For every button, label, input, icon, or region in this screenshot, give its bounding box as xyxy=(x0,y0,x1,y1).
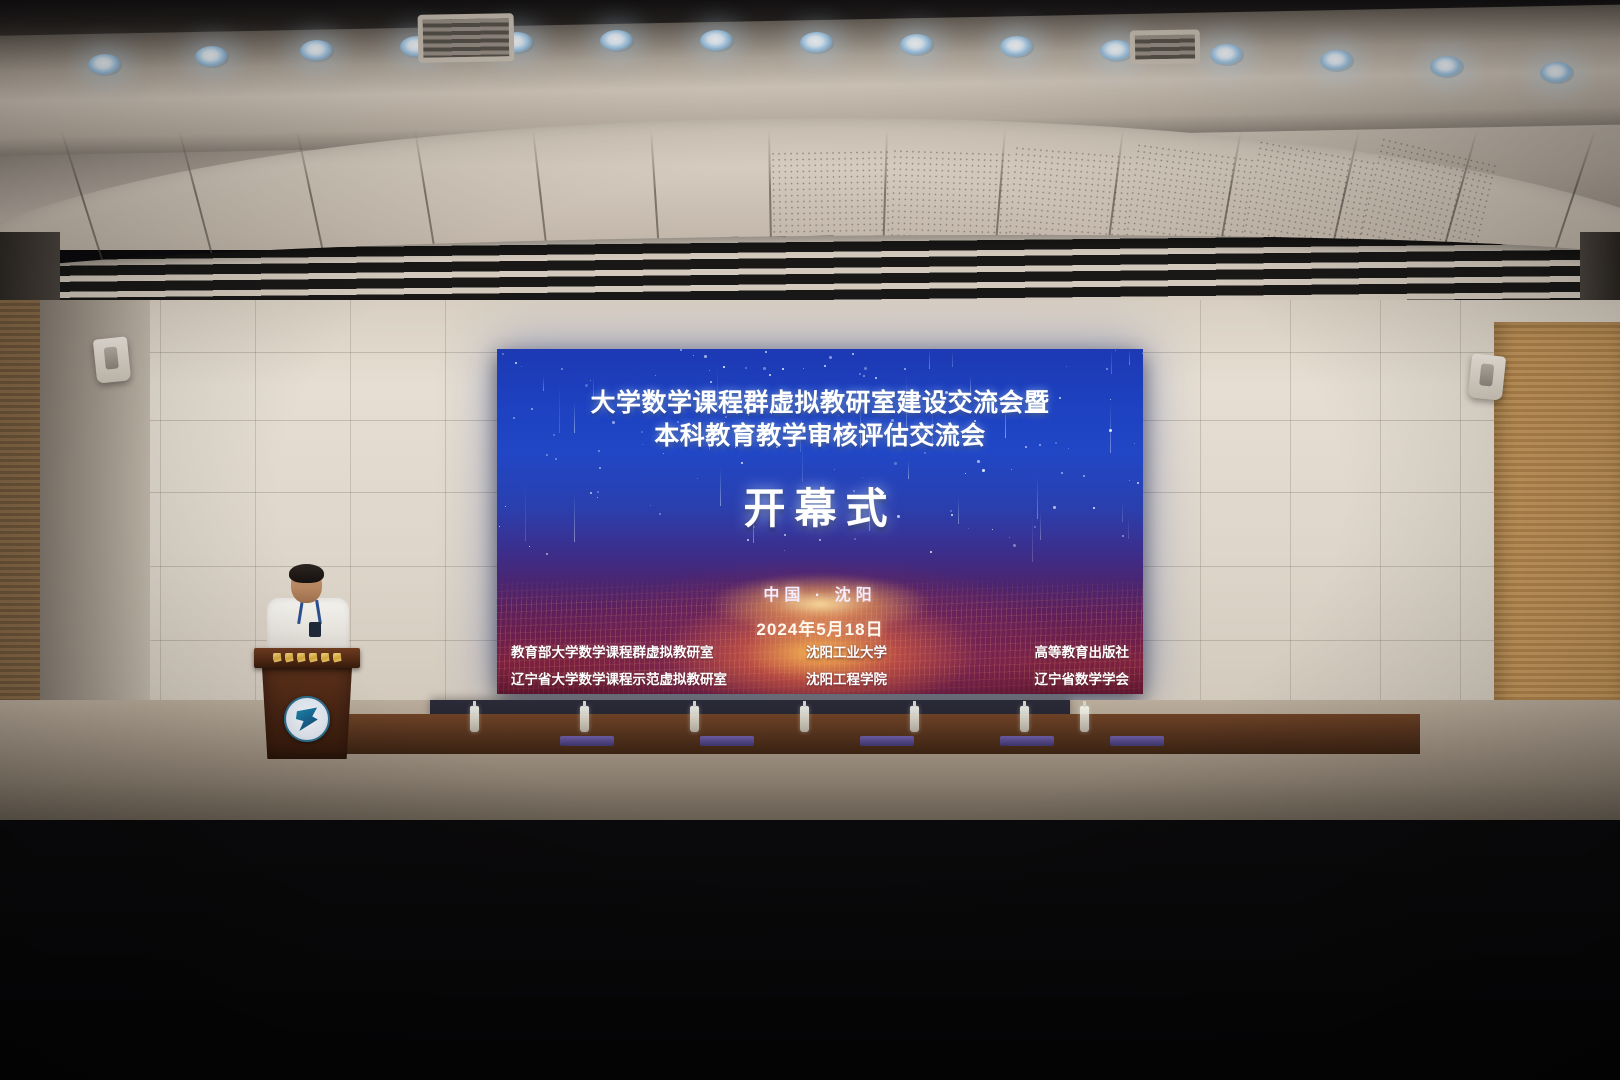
wall-speaker-icon xyxy=(1468,353,1506,400)
date-label: 2024年5月18日 xyxy=(497,615,1143,640)
organizer-cell: 辽宁省大学数学课程示范虚拟教研室 xyxy=(511,668,763,688)
organizer-row: 教育部大学数学课程群虚拟教研室 沈阳工业大学 高等教育出版社 xyxy=(511,641,1129,661)
auditorium-scene: 大学数学课程群虚拟教研室建设交流会暨 本科教育教学审核评估交流会 开幕式 中国 … xyxy=(0,0,1620,1080)
organizer-cell: 沈阳工程学院 xyxy=(806,668,956,688)
organizer-cell: 高等教育出版社 xyxy=(999,641,1129,661)
wall-speaker-left-icon xyxy=(93,336,131,383)
audience-area xyxy=(0,700,1620,1080)
ceiling-downlight-icon xyxy=(700,30,734,52)
ceiling-downlight-icon xyxy=(800,32,834,54)
ceiling-downlight-icon xyxy=(900,34,934,56)
organizer-cell: 教育部大学数学课程群虚拟教研室 xyxy=(511,641,763,661)
conference-title-line-2: 本科教育教学审核评估交流会 xyxy=(497,420,1143,453)
ceiling-downlight-icon xyxy=(1100,40,1134,62)
nameplate-char xyxy=(297,653,306,663)
conference-title: 大学数学课程群虚拟教研室建设交流会暨 本科教育教学审核评估交流会 xyxy=(497,387,1143,452)
ceiling-ac-vent xyxy=(418,13,515,63)
organizer-cell: 辽宁省数学学会 xyxy=(999,668,1129,688)
ceiling-downlight-icon xyxy=(1320,50,1354,72)
badge-icon xyxy=(309,622,321,637)
presenter xyxy=(265,566,351,656)
nameplate-char xyxy=(321,653,330,663)
presenter-hair xyxy=(289,564,324,583)
screen-content: 大学数学课程群虚拟教研室建设交流会暨 本科教育教学审核评估交流会 开幕式 中国 … xyxy=(497,349,1143,694)
ceiling-downlight-icon xyxy=(1210,44,1244,66)
organizer-cell: 沈阳工业大学 xyxy=(806,641,956,661)
podium-nameplate xyxy=(260,652,354,663)
ceiling-downlight-icon xyxy=(1430,56,1464,78)
ceremony-heading: 开幕式 xyxy=(497,475,1143,536)
ceiling-downlight-icon xyxy=(88,54,122,76)
ceiling-downlight-icon xyxy=(1540,62,1574,84)
organizer-row: 辽宁省大学数学课程示范虚拟教研室 沈阳工程学院 辽宁省数学学会 xyxy=(511,668,1129,688)
ceiling-downlight-icon xyxy=(1000,36,1034,58)
nameplate-char xyxy=(309,653,318,663)
ceiling-downlight-icon xyxy=(300,40,334,62)
ceiling-downlight-icon xyxy=(600,30,634,52)
nameplate-char xyxy=(333,653,342,663)
organizer-list: 教育部大学数学课程群虚拟教研室 沈阳工业大学 高等教育出版社 辽宁省大学数学课程… xyxy=(511,641,1129,694)
ceiling-downlight-icon xyxy=(195,46,229,68)
conference-title-line-1: 大学数学课程群虚拟教研室建设交流会暨 xyxy=(497,387,1143,420)
location-label: 中国 · 沈阳 xyxy=(497,581,1143,605)
ceiling-ac-vent xyxy=(1130,29,1201,64)
led-display-screen: 大学数学课程群虚拟教研室建设交流会暨 本科教育教学审核评估交流会 开幕式 中国 … xyxy=(497,349,1143,694)
nameplate-char xyxy=(285,653,294,663)
nameplate-char xyxy=(273,653,282,663)
podium-top xyxy=(254,648,360,668)
